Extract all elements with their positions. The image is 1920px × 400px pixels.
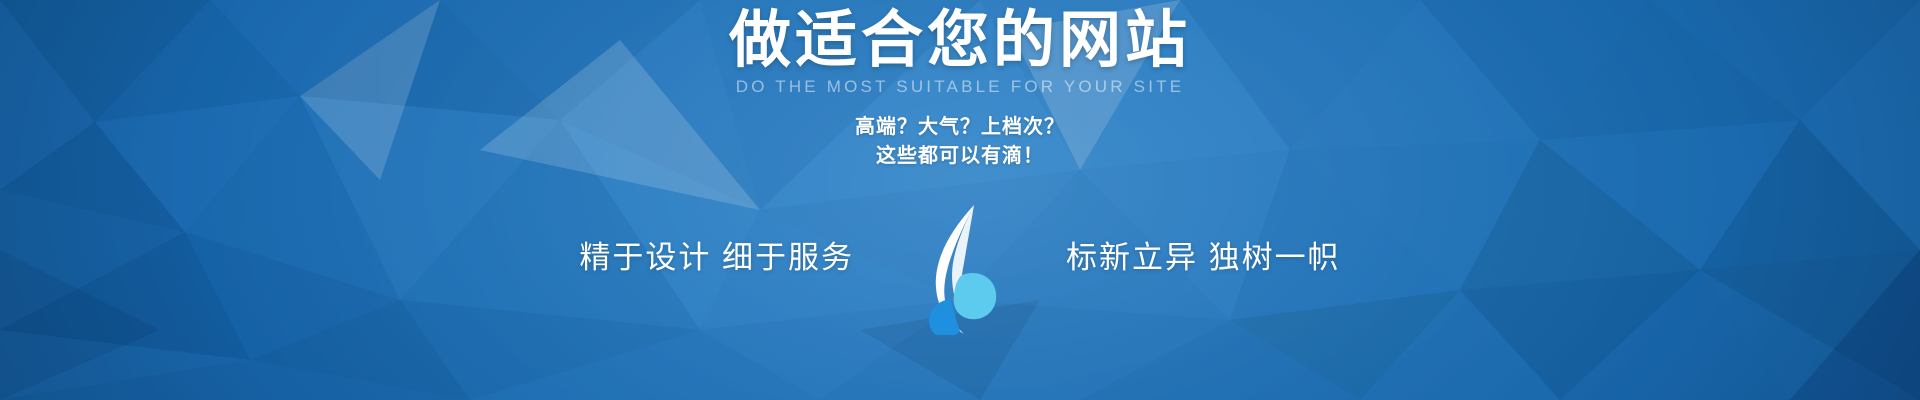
tagline-line-2: 这些都可以有滴！ [855, 142, 1065, 171]
page-title: 做适合您的网站 [729, 8, 1191, 75]
slogan-left: 精于设计 细于服务 [579, 232, 854, 277]
water-drop-swoosh-logo-icon [912, 203, 1008, 335]
slogan-right: 标新立异 独树一帜 [1066, 232, 1341, 277]
tagline-line-1: 高端？大气？上档次？ [855, 113, 1065, 142]
page-subtitle-english: DO THE MOST SUITABLE FOR YOUR SITE [736, 77, 1185, 97]
slogan-row: 精于设计 细于服务 标新立异 独树一帜 [579, 189, 1340, 321]
hero-banner: 做适合您的网站 DO THE MOST SUITABLE FOR YOUR SI… [0, 0, 1920, 400]
tagline-block: 高端？大气？上档次？ 这些都可以有滴！ [855, 113, 1065, 171]
banner-content: 做适合您的网站 DO THE MOST SUITABLE FOR YOUR SI… [0, 0, 1920, 400]
